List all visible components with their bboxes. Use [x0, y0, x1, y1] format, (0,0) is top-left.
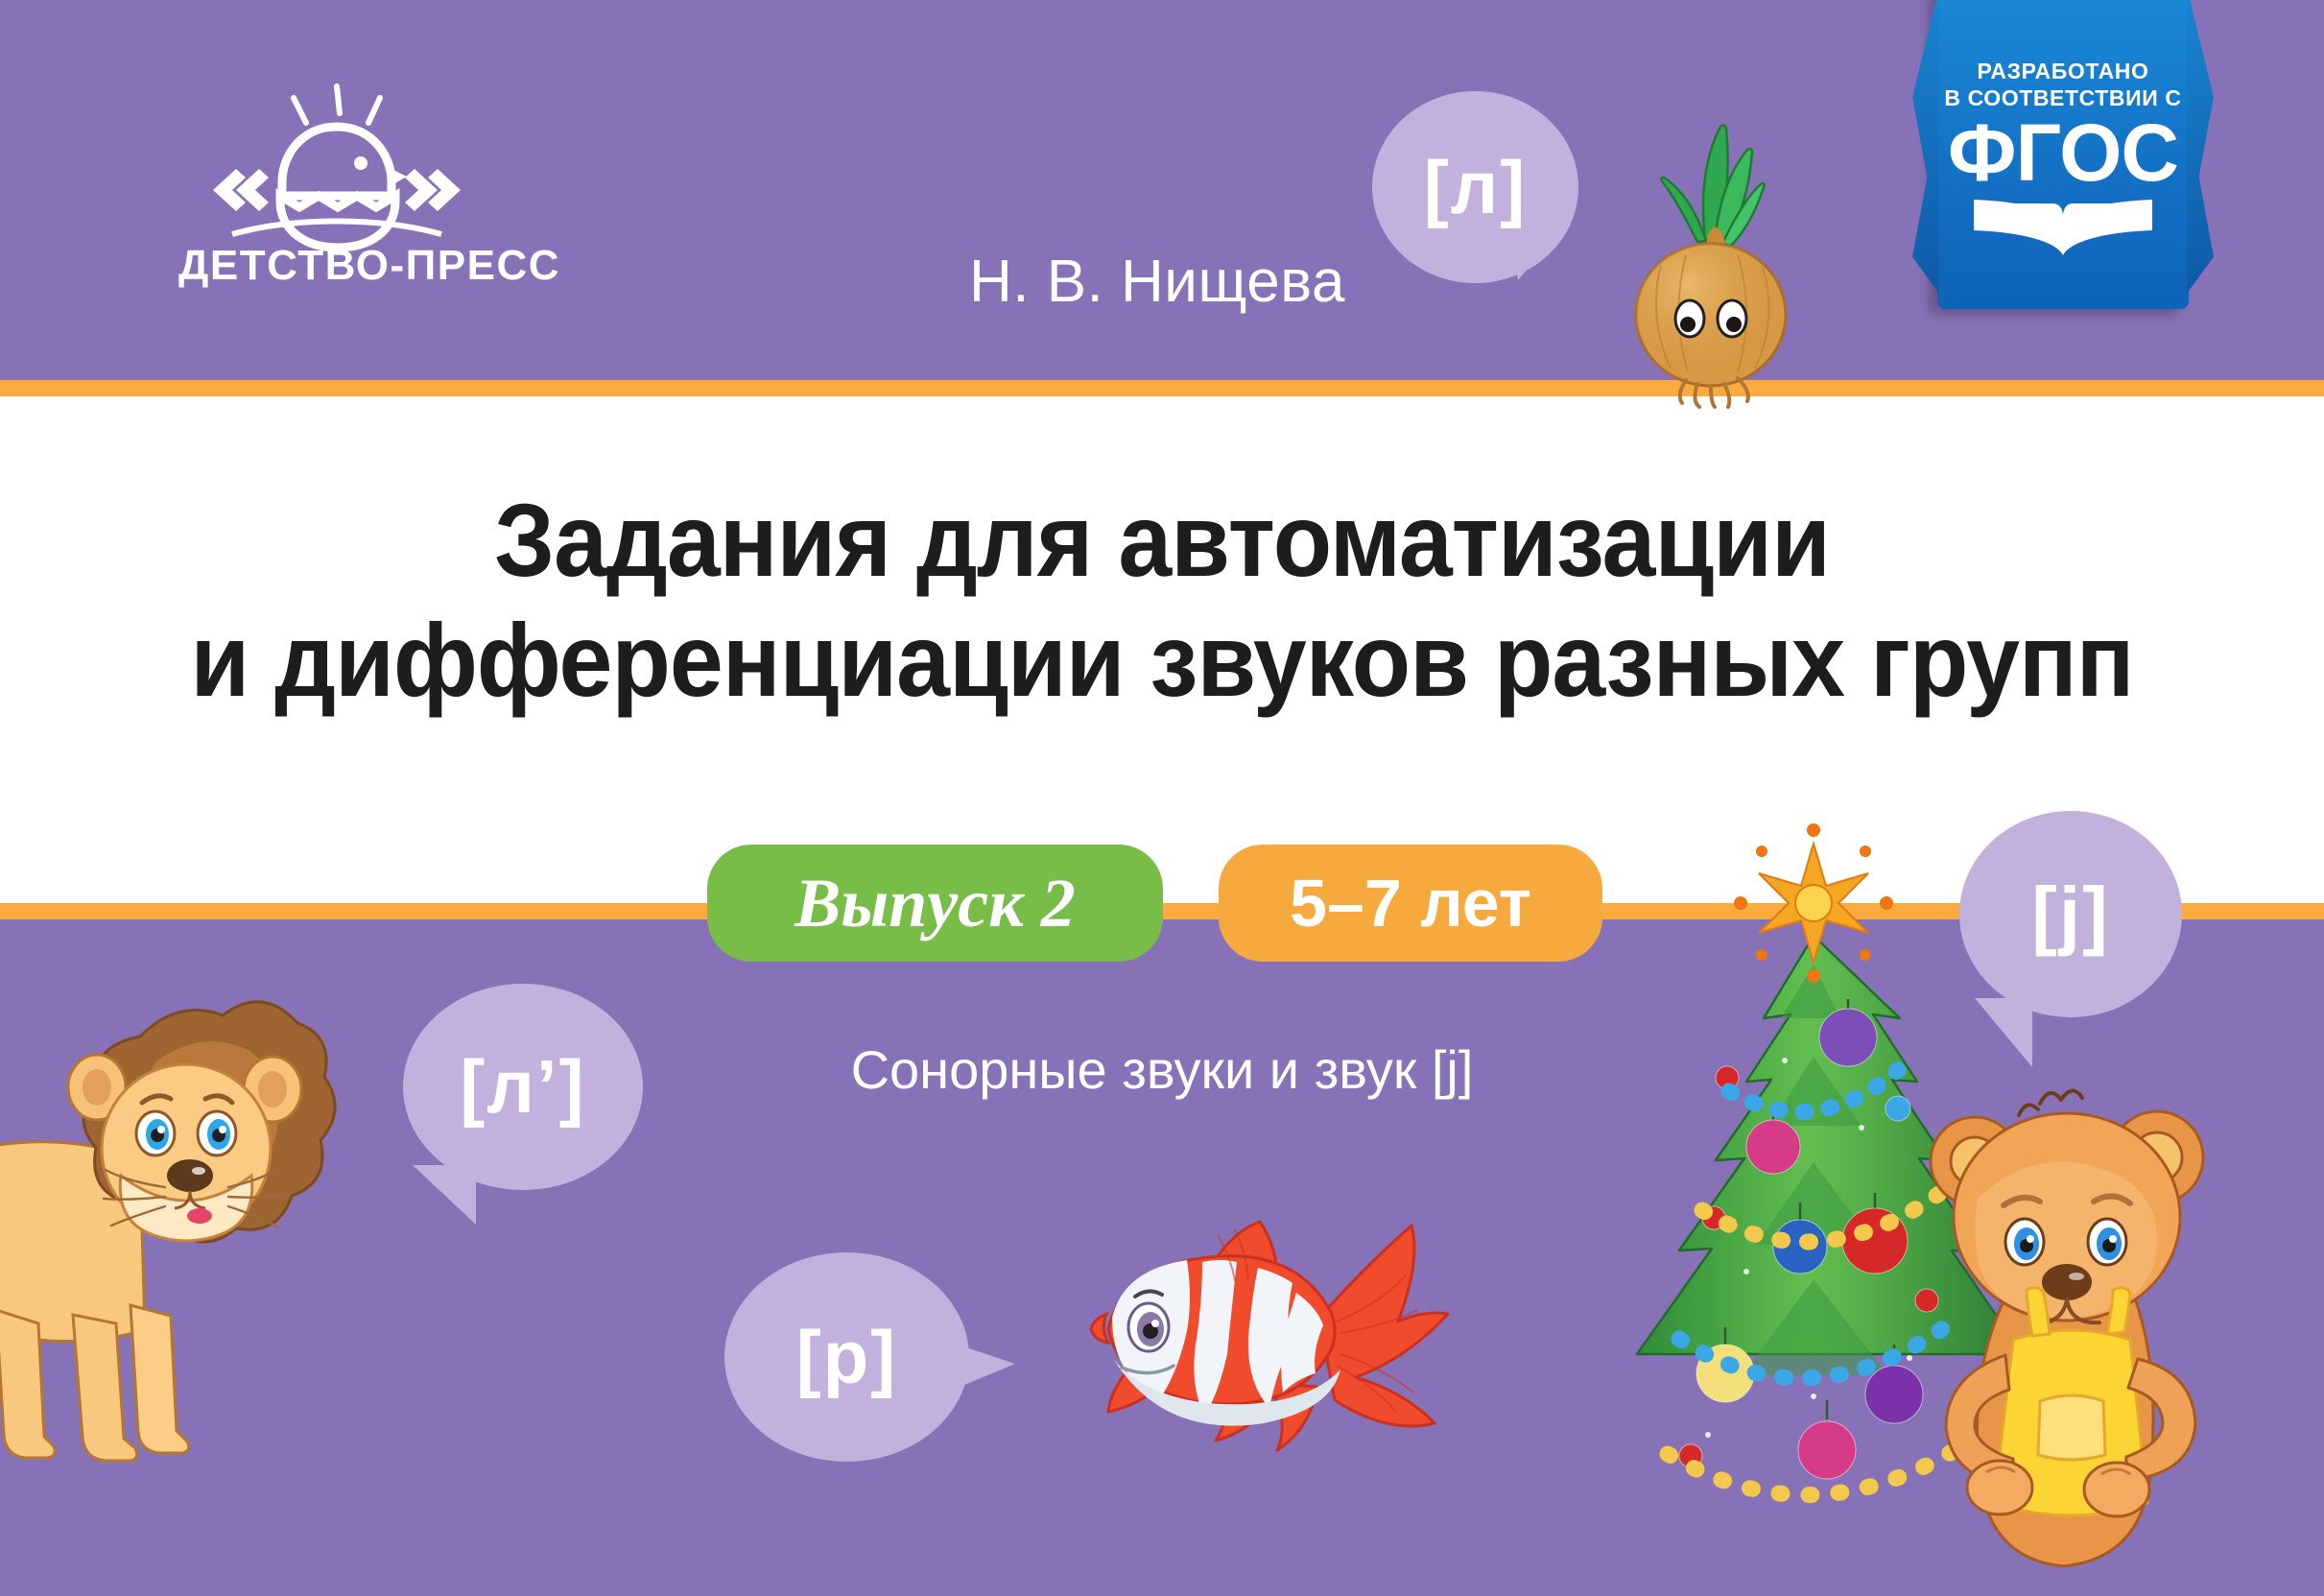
bubble-label: [л] [1372, 91, 1578, 283]
speech-bubble-l-soft: [л’] [403, 984, 643, 1190]
author-name: Н. В. Нищева [969, 248, 1345, 316]
cartoon-onion-illustration [1598, 86, 1818, 403]
bubble-label: [р] [724, 1252, 969, 1462]
title-line-1: Задания для автоматизации [82, 480, 2242, 600]
speech-bubble-r: [р] [724, 1252, 969, 1462]
open-book-icon [1972, 198, 2154, 261]
cartoon-bear-illustration [1919, 1075, 2226, 1584]
age-badge: 5–7 лет [1219, 845, 1602, 962]
fgos-badge: РАЗРАБОТАНО В СООТВЕТСТВИИ С ФГОС [1937, 0, 2189, 309]
cartoon-fish-illustration [1089, 1214, 1463, 1464]
onion-illustration-wrap [1598, 86, 1818, 403]
fgos-acronym: ФГОС [1937, 113, 2189, 192]
book-cover: ДЕТСТВО-ПРЕСС Н. В. Нищева РАЗРАБОТАНО В… [0, 0, 2324, 1596]
issue-badge: Выпуск 2 [707, 845, 1163, 962]
publisher-name: ДЕТСТВО-ПРЕСС [178, 242, 495, 290]
fish-illustration-wrap [1089, 1214, 1463, 1464]
bear-illustration-wrap [1919, 1075, 2226, 1584]
book-title: Задания для автоматизации и дифференциац… [82, 480, 2242, 721]
top-orange-stripe [0, 380, 2324, 396]
title-line-2: и дифференциации звуков разных групп [82, 600, 2242, 720]
lion-illustration-wrap [0, 945, 332, 1521]
publisher-logo: ДЕТСТВО-ПРЕСС [178, 77, 495, 298]
fgos-line-1: РАЗРАБОТАНО [1937, 58, 2189, 84]
bubble-label: [л’] [403, 984, 643, 1190]
cartoon-lion-illustration [0, 945, 332, 1521]
speech-bubble-l: [л] [1372, 91, 1578, 283]
